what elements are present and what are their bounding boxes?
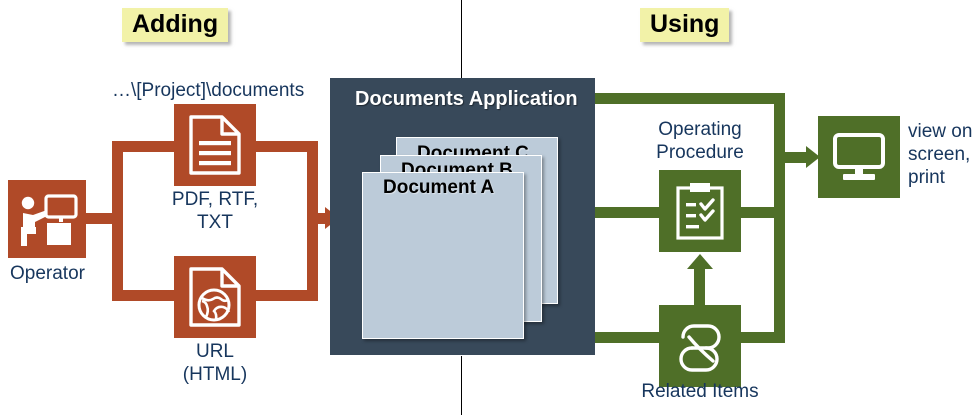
clipboard-checklist-icon (671, 180, 729, 242)
source-tile-file-docs[interactable] (174, 104, 256, 186)
connector-to-file-docs (112, 141, 174, 152)
output-label: view on screen, print (908, 120, 975, 189)
operator-at-desk-icon (16, 188, 78, 250)
source-label-url-html: URL (HTML) (150, 340, 280, 386)
connector-left-split-vertical (112, 141, 123, 301)
document-globe-icon (186, 265, 244, 329)
source-tile-url-html[interactable] (174, 256, 256, 338)
connector-to-url-html (112, 290, 174, 301)
section-banner-using: Using (640, 8, 729, 42)
section-banner-adding: Adding (122, 8, 228, 42)
documents-path-label: …\[Project]\documents (112, 80, 304, 102)
connector-app-to-related-items (595, 332, 659, 343)
connector-right-vertical-rail (774, 93, 785, 343)
connector-operating-procedure-to-rail (740, 207, 785, 218)
node-label-operating-procedure: Operating Procedure (630, 118, 770, 164)
document-card-label-a: Document A (383, 177, 494, 199)
monitor-icon (829, 129, 889, 185)
output-tile-monitor[interactable] (818, 116, 900, 198)
document-lines-icon (186, 113, 244, 177)
source-label-file-docs: PDF, RTF, TXT (150, 188, 280, 234)
connector-related-to-procedure-shaft (694, 268, 705, 310)
diagram-canvas: Adding Using …\[Project]\documents Opera… (0, 0, 975, 415)
node-label-related-items: Related Items (630, 380, 770, 403)
connector-app-to-top-rail (595, 93, 785, 104)
section-divider-bottom (461, 356, 462, 415)
connector-app-to-operating-procedure (595, 207, 659, 218)
node-tile-operating-procedure[interactable] (659, 170, 741, 252)
paperclip-icon (669, 315, 731, 377)
arrow-related-to-procedure (687, 254, 713, 269)
section-divider-top (461, 0, 462, 78)
documents-application-title: Documents Application (355, 88, 578, 111)
node-tile-related-items[interactable] (659, 305, 741, 387)
connector-related-items-to-rail (740, 332, 785, 343)
operator-label: Operator (0, 262, 95, 285)
operator-tile[interactable] (8, 180, 86, 258)
